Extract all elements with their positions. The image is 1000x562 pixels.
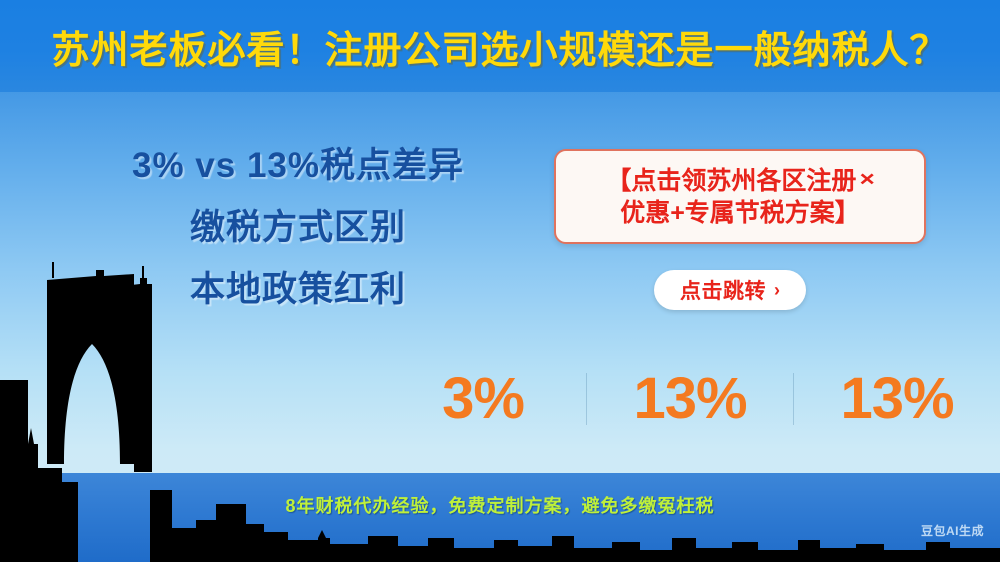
cross-icon: × — [860, 167, 875, 194]
cta-card[interactable]: 【点击领苏州各区注册 × 优惠+专属节税方案】 — [554, 149, 926, 244]
ai-watermark: 豆包AI生成 — [921, 522, 984, 539]
cta-line-2: 优惠+专属节税方案】 — [620, 197, 860, 229]
chevron-right-icon: › — [774, 281, 780, 299]
cta-line-1: 【点击领苏州各区注册 — [606, 165, 856, 197]
percentage-value-1: 3% — [380, 370, 586, 428]
jump-button[interactable]: 点击跳转 › — [654, 270, 806, 310]
percentage-value-2: 13% — [587, 370, 793, 428]
strapline: 8年财税代办经验，免费定制方案，避免多缴冤枉税 — [0, 492, 1000, 518]
percentage-row: 3% 13% 13% — [380, 363, 1000, 435]
cta-line-1-wrap: 【点击领苏州各区注册 × — [606, 165, 873, 197]
headline-line-2: 缴税方式区别 — [78, 210, 518, 245]
headline-line-1: 3% vs 13%税点差异 — [78, 148, 518, 183]
jump-button-label: 点击跳转 — [680, 275, 766, 305]
percentage-value-3: 13% — [794, 370, 1000, 428]
headline-block: 3% vs 13%税点差异 缴税方式区别 本地政策红利 — [78, 148, 518, 307]
page-title: 苏州老板必看！注册公司选小规模还是一般纳税人？ — [0, 0, 1000, 92]
headline-line-3: 本地政策红利 — [78, 272, 518, 307]
poster-root: 苏州老板必看！注册公司选小规模还是一般纳税人？ 3% vs 13%税点差异 缴税… — [0, 0, 1000, 562]
